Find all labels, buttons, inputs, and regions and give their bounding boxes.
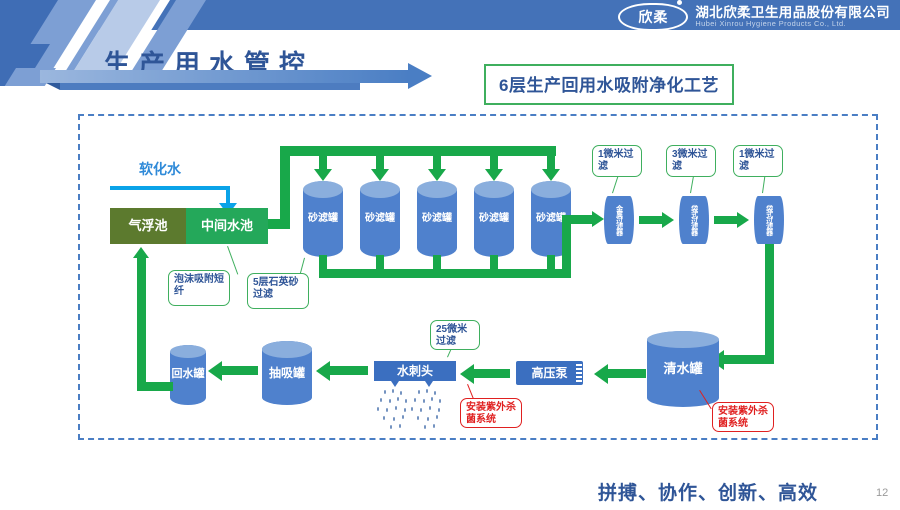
to-filters-arrow-icon (592, 211, 604, 227)
sf-arrow-2-icon (371, 169, 389, 181)
pipe-bf1-to-bf2 (714, 216, 739, 224)
subtitle-label: 6层生产回用水吸附净化工艺 (499, 76, 719, 95)
node-intermediate-pool[interactable]: 中间水池 (186, 208, 268, 244)
node-suction-tank[interactable]: 抽吸罐 (262, 341, 312, 405)
page-number: 12 (876, 487, 888, 499)
pipe-suction-to-return (222, 366, 258, 375)
pipe-bf2-down (765, 244, 774, 364)
pipe-into-cwt (722, 355, 774, 364)
sand-filter-3-label: 砂滤罐 (417, 181, 457, 257)
return-arrow-icon (133, 247, 149, 258)
sf-arrow-5-icon (542, 169, 560, 181)
sand-filter-4-label: 砂滤罐 (474, 181, 514, 257)
pipe-pump-to-head (474, 369, 510, 378)
node-spunlace-head[interactable]: 水刺头 (374, 361, 456, 381)
logo-mark-text: 欣柔 (638, 7, 668, 27)
slide-canvas: 欣柔 湖北欣柔卫生用品股份有限公司 Hubei Xinrou Hygiene P… (0, 0, 900, 510)
return-water-tank-label: 回水罐 (170, 345, 206, 405)
title-arrow-head-icon (408, 63, 432, 89)
sand-filter-2-label: 砂滤罐 (360, 181, 400, 257)
node-bag-filter-1[interactable]: 袋式过滤器 (679, 196, 709, 244)
node-sand-filter-4[interactable]: 砂滤罐 (474, 181, 514, 257)
company-name-cn: 湖北欣柔卫生用品股份有限公司 (695, 6, 890, 20)
node-return-water-tank[interactable]: 回水罐 (170, 345, 206, 405)
logo-dot-icon (677, 0, 682, 5)
suction-to-return-arrow-icon (208, 361, 222, 381)
node-sand-filter-1[interactable]: 砂滤罐 (303, 181, 343, 257)
callout-micron-25: 25微米过滤 (430, 320, 480, 350)
pipe-return-riser (137, 258, 146, 388)
callout-uv-left: 安装紫外杀菌系统 (460, 398, 522, 428)
head-to-suction-arrow-icon (316, 361, 330, 381)
pipe-mf-to-bf1 (639, 216, 664, 224)
company-logo: 欣柔 湖北欣柔卫生用品股份有限公司 Hubei Xinrou Hygiene P… (618, 2, 890, 32)
cwt-to-pump-arrow-icon (594, 364, 608, 384)
suction-tank-label: 抽吸罐 (262, 341, 312, 405)
callout-foam-label: 泡沫吸附短纤 (174, 274, 224, 297)
intermediate-pool-label: 中间水池 (201, 219, 253, 233)
callout-quartz-label: 5层石英砂过滤 (253, 277, 299, 300)
sf-arrow-4-icon (485, 169, 503, 181)
callout-uv-right-label: 安装紫外杀菌系统 (718, 406, 768, 429)
pump-fins-icon (576, 364, 582, 382)
footer-slogan: 拼搏、协作、创新、高效 (598, 478, 818, 505)
pipe-riser (280, 146, 290, 226)
sf-arrow-1-icon (314, 169, 332, 181)
company-name-en: Hubei Xinrou Hygiene Products Co., Ltd. (695, 20, 890, 28)
title-arrow-bar (40, 70, 410, 83)
node-metal-filter[interactable]: 金属过滤器 (604, 196, 634, 244)
pump-to-head-arrow-icon (460, 364, 474, 384)
inlet-pipe-horizontal (110, 186, 230, 190)
callout-foam-adsorption: 泡沫吸附短纤 (168, 270, 230, 306)
pipe-to-filters-riser (562, 215, 571, 277)
pipe-head-to-suction (330, 366, 368, 375)
bag-filter-1-label: 袋式过滤器 (679, 196, 709, 244)
pipe-cwt-to-pump (608, 369, 646, 378)
callout-micron-1a: 1微米过滤 (592, 145, 642, 177)
sand-filter-1-label: 砂滤罐 (303, 181, 343, 257)
callout-uv-right: 安装紫外杀菌系统 (712, 402, 774, 432)
callout-micron-1a-label: 1微米过滤 (598, 149, 634, 172)
node-clean-water-tank[interactable]: 清水罐 (647, 331, 719, 407)
pipe-to-filters (562, 215, 594, 224)
subtitle-box: 6层生产回用水吸附净化工艺 (484, 64, 734, 105)
bf1-to-bf2-arrow-icon (737, 212, 749, 228)
nozzle-2-icon (425, 381, 433, 387)
spunlace-head-label: 水刺头 (397, 365, 433, 378)
callout-micron-1b-label: 1微米过滤 (739, 149, 775, 172)
callout-micron-1b: 1微米过滤 (733, 145, 783, 177)
node-flotation-tank[interactable]: 气浮池 (110, 208, 186, 244)
node-sand-filter-2[interactable]: 砂滤罐 (360, 181, 400, 257)
node-bag-filter-2[interactable]: 袋式过滤器 (754, 196, 784, 244)
callout-micron-3-label: 3微米过滤 (672, 149, 708, 172)
callout-micron-3: 3微米过滤 (666, 145, 716, 177)
metal-filter-label: 金属过滤器 (604, 196, 634, 244)
high-pressure-pump-label: 高压泵 (531, 367, 567, 380)
flotation-tank-label: 气浮池 (128, 219, 167, 233)
callout-micron-25-label: 25微米过滤 (436, 324, 467, 347)
bag-filter-2-label: 袋式过滤器 (754, 196, 784, 244)
logo-mark-icon: 欣柔 (618, 3, 688, 31)
node-high-pressure-pump[interactable]: 高压泵 (516, 361, 583, 385)
callout-uv-left-label: 安装紫外杀菌系统 (466, 402, 516, 425)
pipe-bottom-manifold (319, 269, 571, 278)
nozzle-1-icon (391, 381, 399, 387)
clean-water-tank-label: 清水罐 (647, 331, 719, 407)
mf-to-bf1-arrow-icon (662, 212, 674, 228)
callout-quartz-sand: 5层石英砂过滤 (247, 273, 309, 309)
node-sand-filter-3[interactable]: 砂滤罐 (417, 181, 457, 257)
sf-arrow-3-icon (428, 169, 446, 181)
inlet-label: 软化水 (139, 159, 181, 179)
